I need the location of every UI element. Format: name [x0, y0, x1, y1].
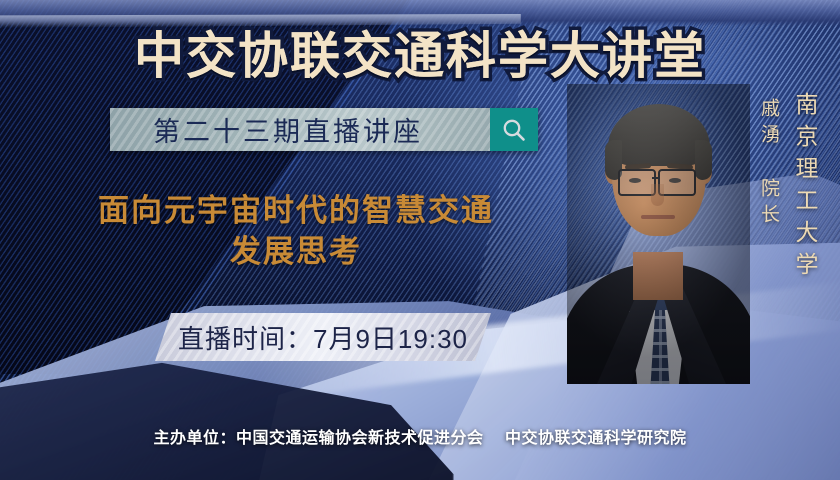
portrait-glasses-bridge [652, 177, 660, 179]
speaker-name-title: 戚湧 院长 [755, 98, 782, 230]
page-title: 中交协联交通科学大讲堂 [0, 16, 840, 88]
speaker-affiliation: 南京理工大学 [788, 92, 822, 284]
lecture-topic: 面向元宇宙时代的智慧交通 发展思考 [36, 190, 556, 272]
search-icon [501, 117, 527, 143]
organizer-footer: 主办单位：中国交通运输协会新技术促进分会 中交协联交通科学研究院 [0, 424, 840, 448]
portrait-neck [633, 252, 683, 300]
portrait-nose [651, 184, 664, 206]
lecture-topic-line-1: 面向元宇宙时代的智慧交通 [36, 190, 556, 231]
episode-bar: 第二十三期直播讲座 [110, 108, 538, 151]
portrait-mouth [641, 215, 675, 219]
speaker-portrait [567, 84, 750, 384]
lecture-topic-line-2: 发展思考 [36, 231, 556, 272]
broadcast-time-badge: 直播时间：7月9日19:30 [155, 313, 491, 361]
live-stream-poster: 中交协联交通科学大讲堂 中交协联交通科学大讲堂 第二十三期直播讲座 面向元宇宙时… [0, 0, 840, 480]
search-button[interactable] [490, 108, 538, 151]
broadcast-time-label: 直播时间：7月9日19:30 [178, 319, 468, 356]
portrait-hair-side-right [695, 140, 712, 180]
episode-label: 第二十三期直播讲座 [110, 110, 490, 149]
